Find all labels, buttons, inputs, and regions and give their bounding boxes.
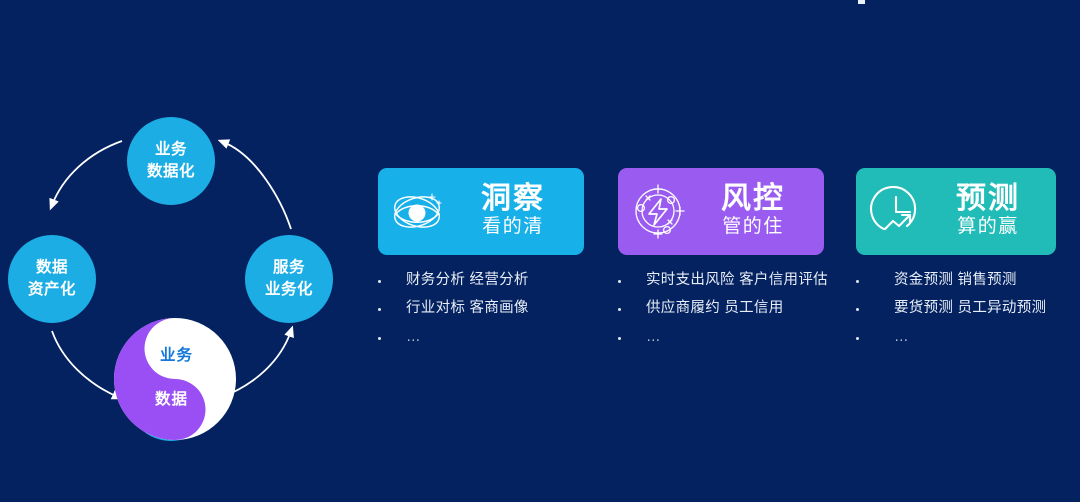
bullet-item: 行业对标 客商画像 — [378, 300, 584, 317]
bullet-item: … — [378, 329, 584, 346]
bullet-dot-icon — [378, 280, 381, 283]
card-subtitle-insight: 看的清 — [482, 215, 544, 240]
arrow-right-to-top — [223, 142, 291, 229]
card-titles-insight: 洞察 看的清 — [448, 183, 584, 240]
card-titles-forecast: 预测 算的赢 — [926, 183, 1056, 240]
cycle-node-right-line1: 服务 — [273, 257, 305, 279]
bullet-item: 要货预测 员工异动预测 — [856, 300, 1056, 317]
card-title-insight: 洞察 — [481, 183, 545, 215]
bullet-dot-icon — [618, 308, 621, 311]
bullet-dot-icon — [378, 308, 381, 311]
bullet-dot-icon — [856, 280, 859, 283]
slide-canvas: 业务 数据化 数据 资产化 服务 业务化 资产 服务化 业务 数据 — [0, 0, 1080, 502]
yin-yang-label-bottom: 数据 — [155, 387, 188, 409]
card-subtitle-risk-control: 管的住 — [722, 215, 784, 240]
bullet-dot-icon — [856, 308, 859, 311]
cycle-node-left-line2: 资产化 — [28, 279, 76, 301]
cycle-node-right[interactable]: 服务 业务化 — [245, 235, 333, 323]
card-title-forecast: 预测 — [956, 183, 1020, 215]
bullet-dot-icon — [618, 280, 621, 283]
bullet-text: … — [646, 329, 663, 346]
card-bullets-forecast: 资金预测 销售预测 要货预测 员工异动预测 … — [856, 272, 1056, 346]
cycle-node-left-line1: 数据 — [36, 257, 68, 279]
capability-card-forecast[interactable]: 预测 算的赢 资金预测 销售预测 要货预测 员工异动预测 … — [856, 168, 1056, 362]
clock-trend-icon — [866, 182, 926, 242]
bullet-dot-icon — [618, 337, 621, 340]
bullet-dot-icon — [856, 337, 859, 340]
card-header-insight[interactable]: 洞察 看的清 — [378, 168, 584, 255]
arrow-top-to-left — [52, 141, 122, 205]
lightning-orbit-icon — [628, 182, 688, 242]
card-header-forecast[interactable]: 预测 算的赢 — [856, 168, 1056, 255]
card-subtitle-forecast: 算的赢 — [957, 215, 1019, 240]
bullet-item: 资金预测 销售预测 — [856, 272, 1056, 289]
yin-yang-label-top: 业务 — [160, 343, 193, 365]
yin-yang-center[interactable]: 业务 数据 — [114, 318, 236, 440]
cycle-node-left[interactable]: 数据 资产化 — [8, 235, 96, 323]
arrow-left-to-bottom — [52, 331, 118, 397]
card-title-risk-control: 风控 — [721, 183, 785, 215]
cycle-node-top[interactable]: 业务 数据化 — [127, 117, 215, 205]
bullet-text: 财务分析 经营分析 — [406, 272, 529, 289]
bullet-text: 实时支出风险 客户信用评估 — [646, 272, 828, 289]
capability-card-risk-control[interactable]: 风控 管的住 实时支出风险 客户信用评估 供应商履约 员工信用 … — [618, 168, 824, 362]
bullet-text: 资金预测 销售预测 — [894, 272, 1017, 289]
bullet-text: 供应商履约 员工信用 — [646, 300, 784, 317]
capability-card-insight[interactable]: 洞察 看的清 财务分析 经营分析 行业对标 客商画像 … — [378, 168, 584, 362]
bullet-text: 要货预测 员工异动预测 — [894, 300, 1046, 317]
card-titles-risk-control: 风控 管的住 — [688, 183, 824, 240]
business-data-cycle-diagram: 业务 数据化 数据 资产化 服务 业务化 资产 服务化 业务 数据 — [0, 105, 350, 455]
bullet-item: 供应商履约 员工信用 — [618, 300, 824, 317]
bullet-item: … — [618, 329, 824, 346]
bullet-dot-icon — [378, 337, 381, 340]
yin-yang-icon — [114, 318, 236, 440]
bullet-item: 实时支出风险 客户信用评估 — [618, 272, 824, 289]
eye-orbit-icon — [388, 182, 448, 242]
bullet-item: … — [856, 329, 1056, 346]
card-bullets-risk-control: 实时支出风险 客户信用评估 供应商履约 员工信用 … — [618, 272, 824, 346]
bullet-text: 行业对标 客商画像 — [406, 300, 529, 317]
card-header-risk-control[interactable]: 风控 管的住 — [618, 168, 824, 255]
bullet-text: … — [406, 329, 423, 346]
bullet-item: 财务分析 经营分析 — [378, 272, 584, 289]
cycle-node-top-line1: 业务 — [155, 139, 187, 161]
cycle-node-top-line2: 数据化 — [147, 161, 195, 183]
cycle-node-right-line2: 业务化 — [265, 279, 313, 301]
card-bullets-insight: 财务分析 经营分析 行业对标 客商画像 … — [378, 272, 584, 346]
bullet-text: … — [894, 329, 911, 346]
top-edge-artifact — [858, 0, 865, 4]
